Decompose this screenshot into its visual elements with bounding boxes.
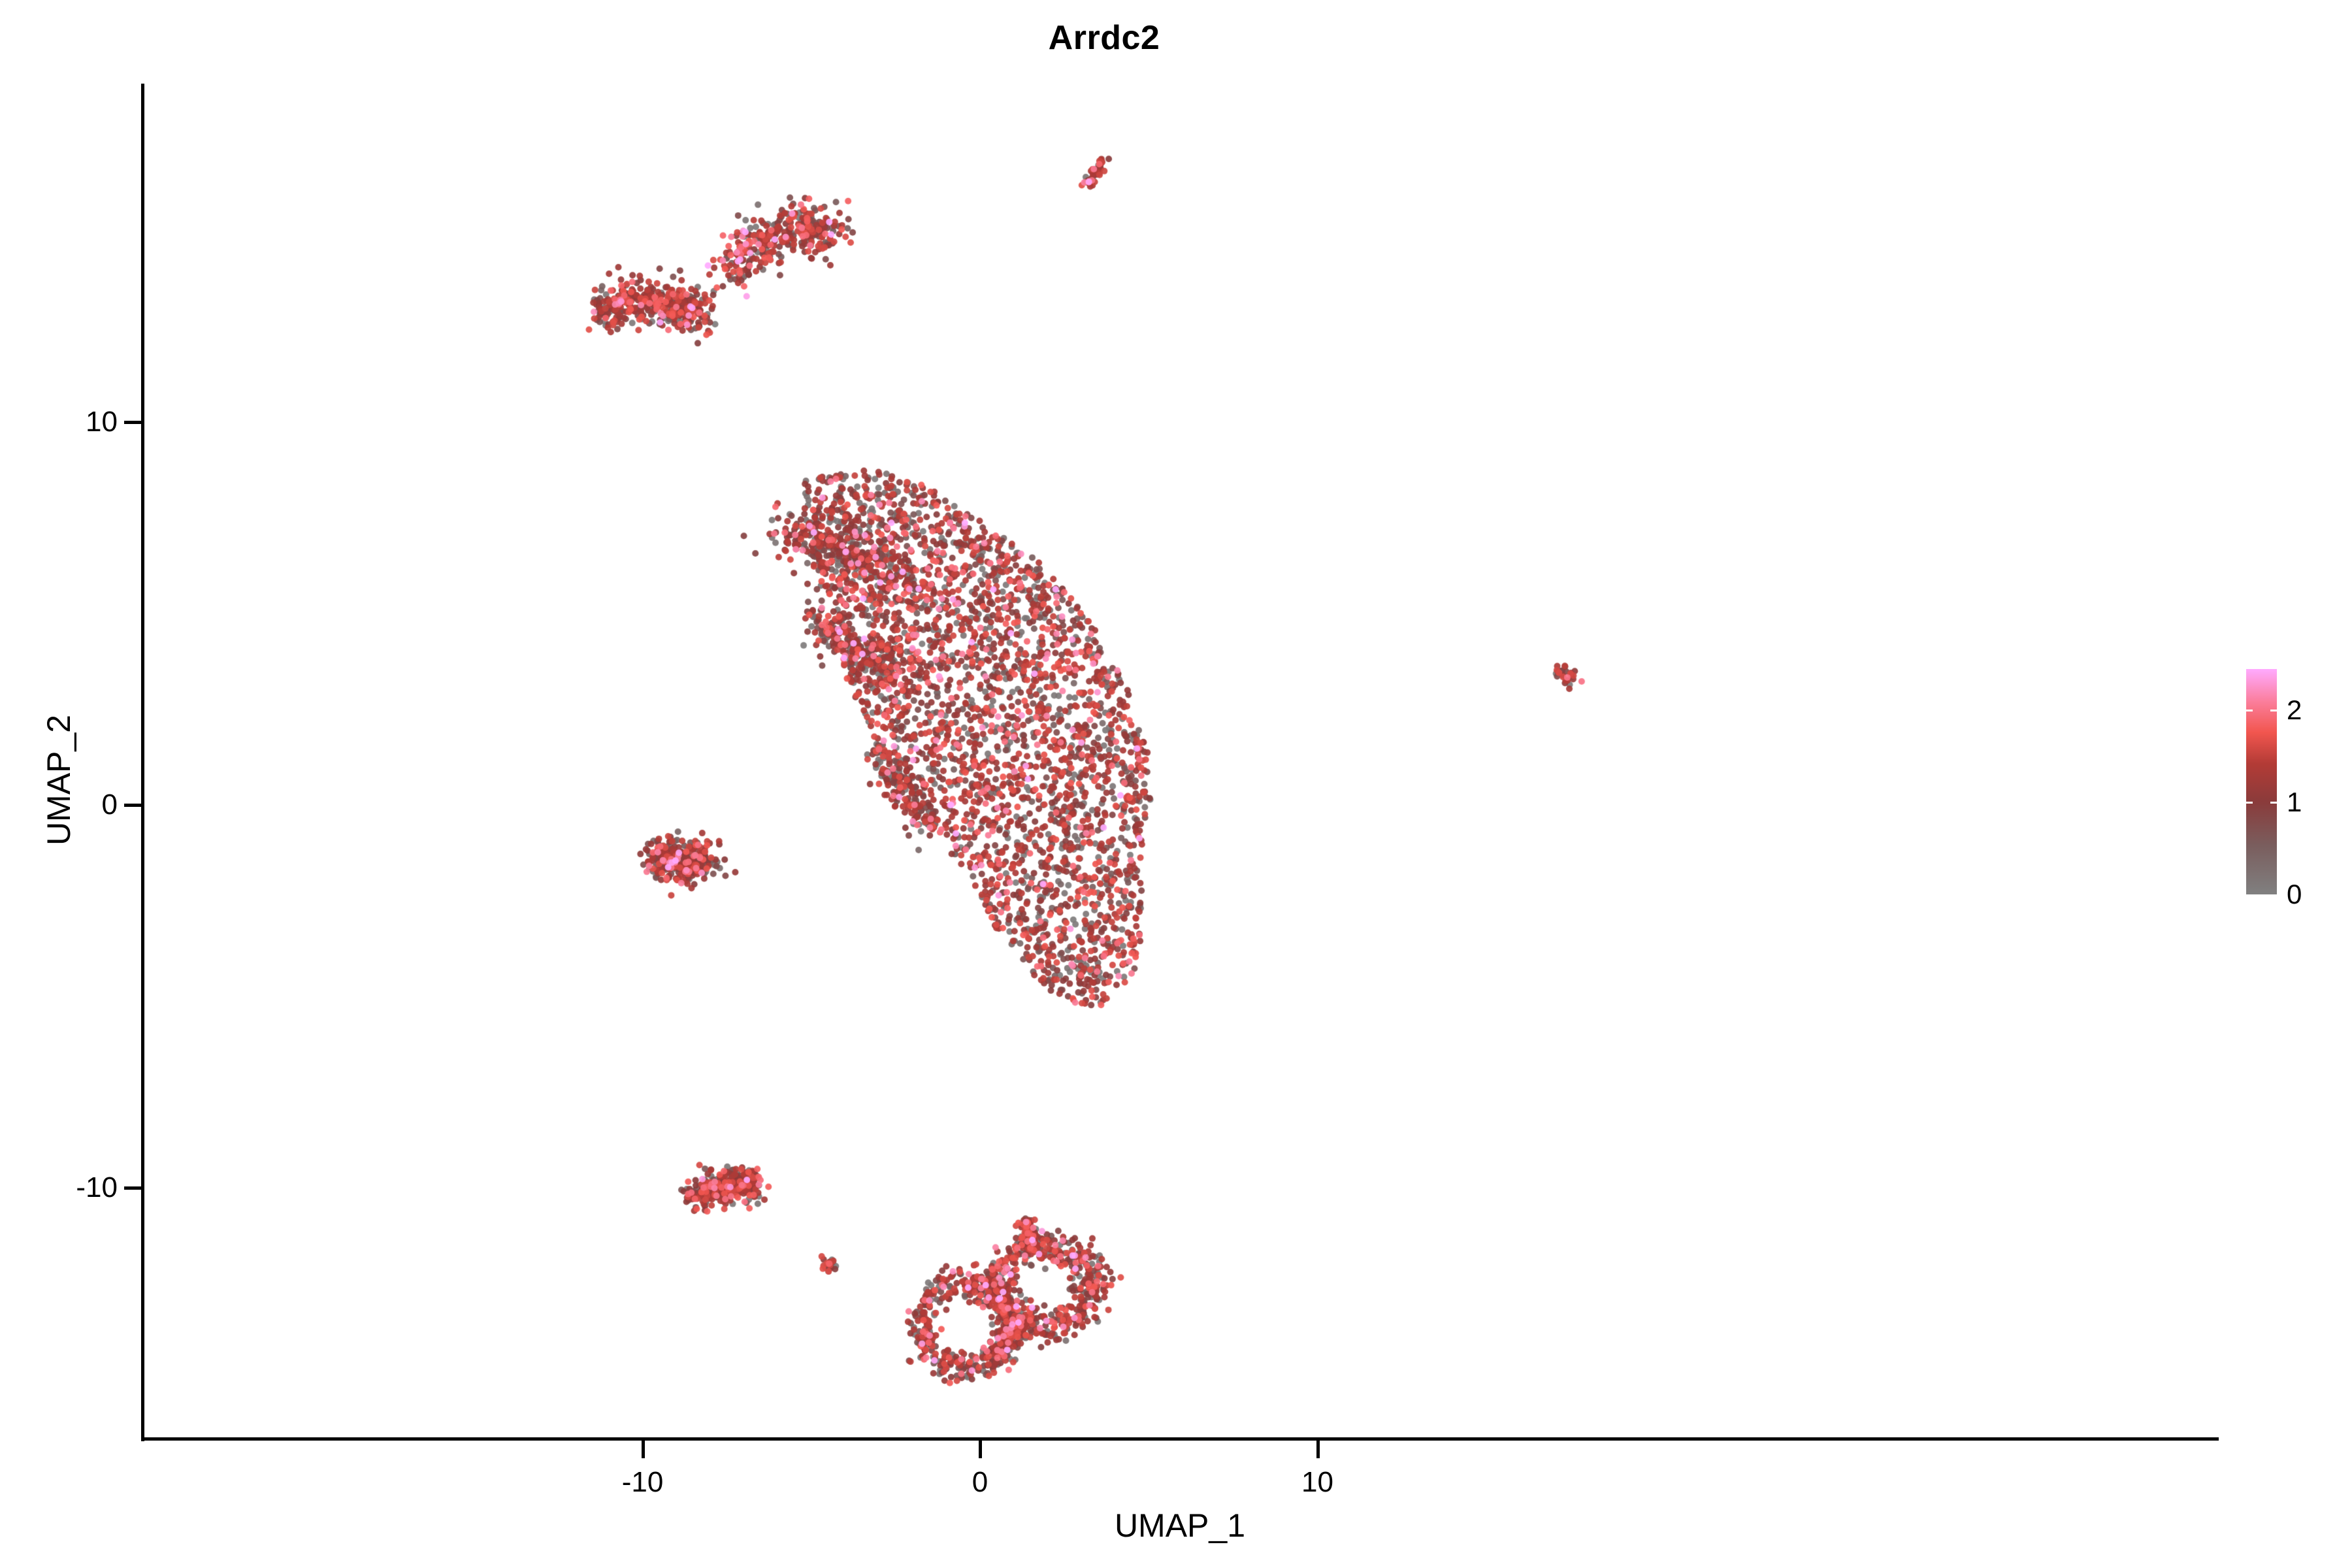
x-tick-mark — [1316, 1441, 1320, 1458]
colorbar-legend: 012 — [2246, 669, 2338, 894]
x-tick-label: 0 — [972, 1466, 988, 1499]
x-axis-title: UMAP_1 — [141, 1507, 2219, 1544]
x-tick-label: -10 — [622, 1466, 664, 1499]
colorbar-tick-label: 0 — [2287, 879, 2302, 910]
x-tick-mark — [979, 1441, 982, 1458]
colorbar-gradient — [2246, 669, 2277, 894]
y-axis-title: UMAP_2 — [40, 682, 78, 878]
feature-plot: Arrdc2 UMAP_2 UMAP_1 100-10-10010 012 — [0, 0, 2352, 1568]
colorbar-tick-mark — [2246, 710, 2253, 711]
colorbar-tick-label: 2 — [2287, 694, 2302, 726]
colorbar-tick-mark — [2246, 802, 2253, 804]
y-tick-label: -10 — [76, 1171, 118, 1204]
x-tick-label: 10 — [1301, 1466, 1333, 1499]
x-axis-line — [141, 1437, 2219, 1441]
y-tick-mark — [124, 421, 142, 424]
scatter-plot-canvas — [0, 0, 2352, 1568]
colorbar-tick-label: 1 — [2287, 787, 2302, 818]
y-tick-label: 0 — [102, 789, 118, 821]
colorbar-tick-mark — [2270, 710, 2277, 711]
y-tick-mark — [124, 1186, 142, 1190]
y-tick-label: 10 — [86, 406, 118, 438]
y-axis-line — [141, 84, 144, 1441]
y-tick-mark — [124, 804, 142, 807]
colorbar-tick-mark — [2270, 802, 2277, 804]
x-tick-mark — [642, 1441, 645, 1458]
